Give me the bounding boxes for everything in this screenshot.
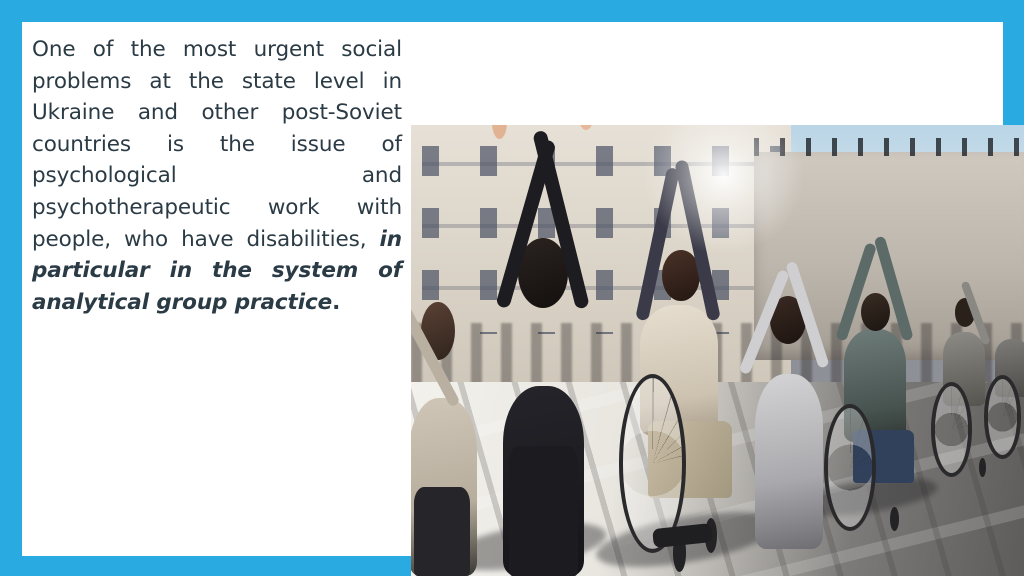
body-paragraph: One of the most urgent social problems a… [32, 34, 402, 318]
wheelchair-wheel [824, 404, 876, 531]
person-legs [414, 487, 470, 576]
wheelchair-caster [890, 507, 899, 531]
person-wheelchair-user [981, 287, 1024, 458]
person-head [861, 293, 890, 332]
person-wheelchair-user [613, 188, 748, 576]
person-torso [755, 374, 823, 549]
person-figure [491, 143, 595, 576]
wheelchair-caster [979, 458, 986, 477]
clasped-hands [578, 125, 594, 130]
body-text-regular: One of the most urgent social problems a… [32, 37, 402, 252]
body-text-period: . [332, 290, 340, 315]
person-figure [742, 224, 834, 549]
person-wheelchair-user [822, 233, 932, 531]
person-figure [411, 233, 478, 576]
wheelchair-wheel [931, 382, 972, 477]
presentation-slide: One of the most urgent social problems a… [0, 0, 1024, 576]
photo-scene [411, 125, 1024, 576]
slide-body-text: One of the most urgent social problems a… [32, 34, 402, 318]
foreground-people [411, 125, 1024, 576]
slide-photo [411, 125, 1024, 576]
person-legs [509, 446, 578, 576]
clasped-hands [492, 125, 508, 139]
wheelchair-wheel [984, 375, 1022, 458]
